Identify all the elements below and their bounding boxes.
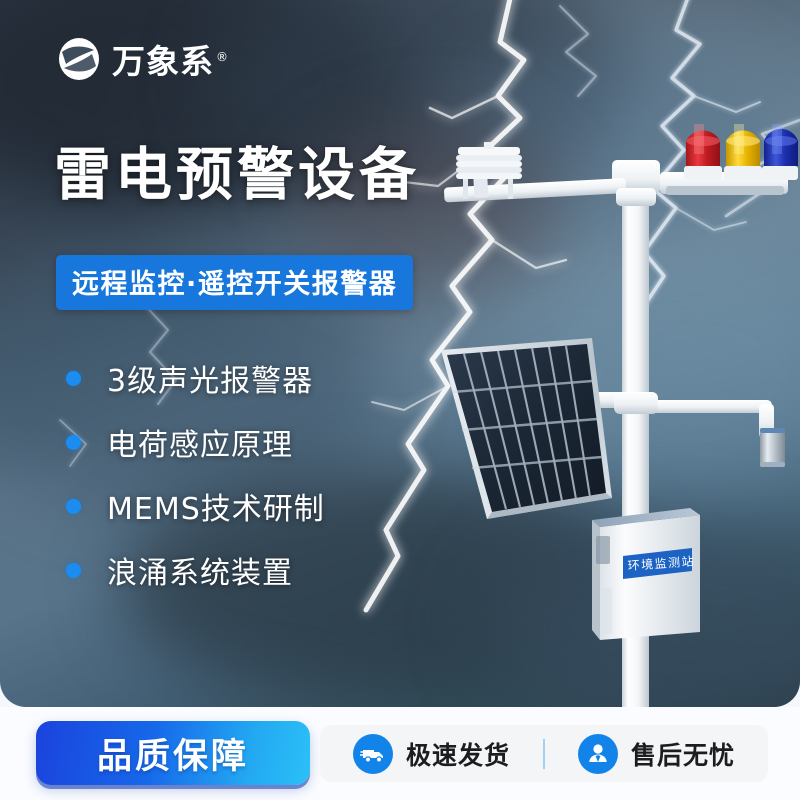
- feature-label: 电荷感应原理: [107, 420, 293, 464]
- alarm-beacon-blue: [762, 124, 798, 180]
- service-after-sales: 售后无忧: [545, 734, 768, 774]
- trust-bar: 品质保障 极速发货: [0, 707, 800, 800]
- product-poster: 环境监测站 万象系® 雷电预警设备 远程监控·遥控开关报警器 3级声光报警器: [0, 0, 800, 800]
- alarm-beacon-yellow: [724, 124, 762, 180]
- bullet-dot-icon: [66, 563, 81, 578]
- quality-badge: 品质保障: [36, 721, 310, 785]
- page-title: 雷电预警设备: [54, 146, 420, 206]
- feature-list: 3级声光报警器 电荷感应原理 MEMS技术研制 浪涌系统装置: [66, 348, 426, 604]
- list-item: 3级声光报警器: [66, 348, 426, 408]
- delivery-truck-icon: [353, 734, 393, 774]
- service-fast-shipping: 极速发货: [320, 734, 543, 774]
- brand-name-text: 万象系: [112, 42, 214, 81]
- bullet-dot-icon: [66, 499, 81, 514]
- brand-logo: 万象系®: [56, 36, 229, 82]
- subtitle-pill: 远程监控·遥控开关报警器: [56, 255, 413, 310]
- feature-label: 3级声光报警器: [107, 356, 313, 400]
- feature-label: 浪涌系统装置: [107, 548, 293, 592]
- customer-support-person-icon: [578, 734, 618, 774]
- service-label: 极速发货: [406, 736, 510, 772]
- list-item: 浪涌系统装置: [66, 540, 426, 600]
- list-item: MEMS技术研制: [66, 476, 426, 536]
- solar-panel: [441, 338, 612, 519]
- service-label: 售后无忧: [631, 736, 735, 772]
- list-item: 电荷感应原理: [66, 412, 426, 472]
- bullet-dot-icon: [66, 371, 81, 386]
- brand-name-wordmark: 万象系®: [112, 35, 229, 83]
- service-group: 极速发货 售后无忧: [320, 725, 768, 782]
- quality-badge-label: 品质保障: [97, 728, 249, 779]
- hero-background-image: 环境监测站 万象系® 雷电预警设备 远程监控·遥控开关报警器 3级声光报警器: [0, 0, 800, 707]
- alarm-beacon-red: [684, 124, 722, 180]
- trademark-symbol: ®: [216, 50, 229, 64]
- feature-label: MEMS技术研制: [107, 484, 325, 528]
- control-box: 环境监测站: [592, 508, 700, 640]
- swoosh-globe-logo-icon: [56, 36, 102, 82]
- cylinder-sensor: [650, 400, 785, 467]
- bullet-dot-icon: [66, 435, 81, 450]
